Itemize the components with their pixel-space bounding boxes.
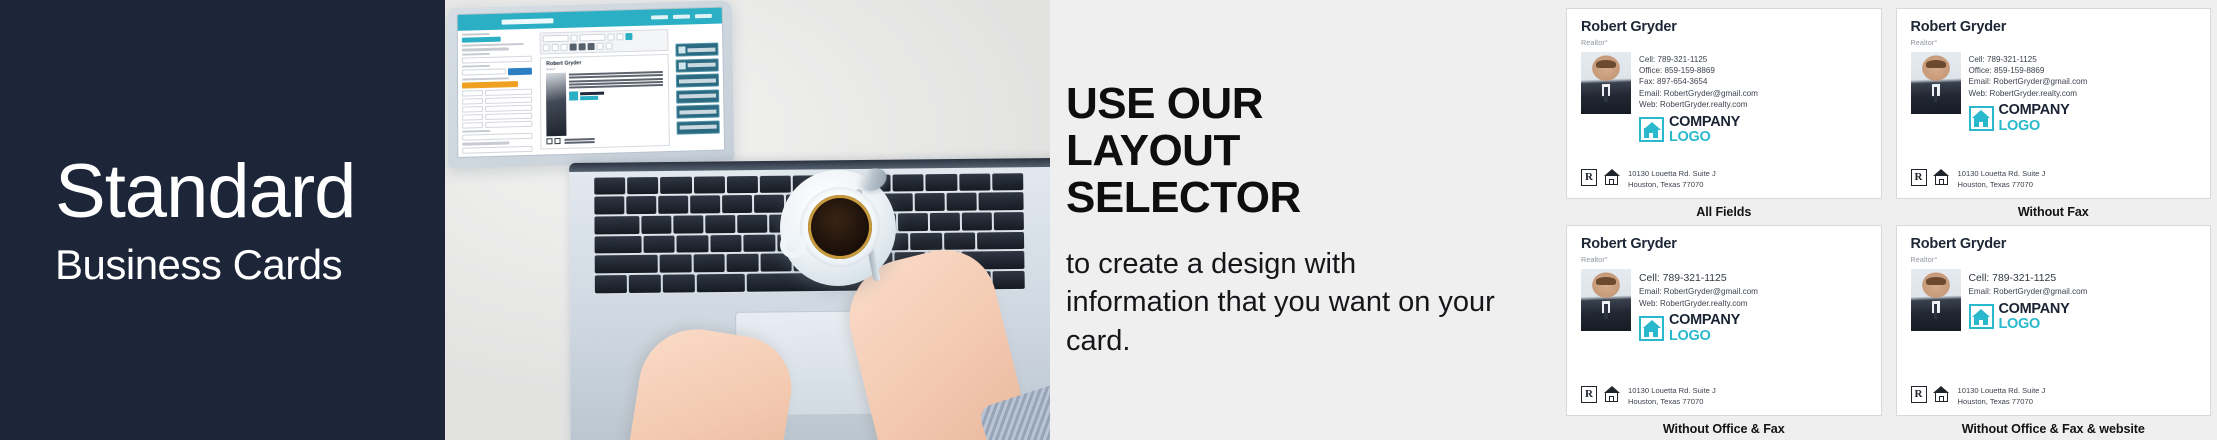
business-card-without-office-fax[interactable]: Robert Gryder Realtor° Cell: 789-321-112… <box>1566 225 1882 416</box>
side-action-label <box>687 63 716 68</box>
card-contact-block: Cell: 789-321-1125 Office: 859-159-8869 … <box>1639 52 1869 166</box>
card-role: Realtor° <box>1911 255 2199 264</box>
logo-line-2: LOGO <box>1669 130 1740 145</box>
toolbar-row-2 <box>543 41 665 51</box>
card-preview[interactable]: Robert Gryder Realtor° <box>540 54 670 150</box>
address-input[interactable] <box>462 133 532 141</box>
card-contact-block: Cell: 789-321-1125 Email: RobertGryder@g… <box>1969 269 2199 383</box>
contact-line-office: Office: 859-159-8869 <box>1639 65 1869 76</box>
house-icon <box>1969 106 1994 131</box>
laptop-lid: Robert Gryder Realtor° <box>448 0 735 168</box>
realtor-icon: R <box>1911 169 1927 186</box>
card-caption-without-fax: Without Fax <box>1896 199 2212 219</box>
equal-housing-opportunity-icon <box>1603 386 1620 403</box>
preview-logo-text <box>581 91 605 99</box>
card-name: Robert Gryder <box>1911 237 2199 252</box>
name-input[interactable] <box>461 55 531 63</box>
card-name: Robert Gryder <box>1581 237 1869 252</box>
promo-copy: USE OUR LAYOUT SELECTOR to create a desi… <box>1066 0 1506 440</box>
office-input[interactable] <box>485 97 532 104</box>
app-nav-links <box>652 14 713 20</box>
align-center-button[interactable] <box>552 44 559 51</box>
logo-line-1: COMPANY <box>1669 115 1740 130</box>
side-action-label <box>679 93 717 98</box>
app-preview-panel: Robert Gryder Realtor° <box>537 28 672 152</box>
address-line-2: Houston, Texas 77070 <box>1958 180 2046 191</box>
extra-input[interactable] <box>462 145 532 153</box>
side-action-background[interactable] <box>675 73 719 87</box>
realtor-icon <box>547 139 553 145</box>
company-logo-text: COMPANY LOGO <box>1669 115 1740 145</box>
layout-selector-highlight[interactable] <box>462 81 518 89</box>
realtor-icon: R <box>1911 386 1927 403</box>
card-role: Realtor° <box>1911 38 2199 47</box>
card-caption-without-office-fax-website: Without Office & Fax & website <box>1896 416 2212 436</box>
headshot-photo <box>1911 269 1961 331</box>
card-address: 10130 Louetta Rd. Suite J Houston, Texas… <box>1628 386 1716 408</box>
company-logo-text: COMPANY LOGO <box>1999 302 2070 332</box>
house-door <box>1979 320 1983 325</box>
promo-subtext: to create a design with information that… <box>1066 245 1506 360</box>
card-caption-without-office-fax: Without Office & Fax <box>1566 416 1882 436</box>
house-door <box>1649 332 1653 337</box>
side-action-label <box>687 47 716 52</box>
email-input[interactable] <box>485 113 532 120</box>
apply-button[interactable] <box>508 68 532 76</box>
panel-subtitle: Business Cards <box>55 244 445 286</box>
field-row <box>462 121 532 129</box>
fax-select[interactable] <box>462 106 483 113</box>
card-contact-block: Cell: 789-321-1125 Email: RobertGryder@g… <box>1639 269 1869 383</box>
promo-headline: USE OUR LAYOUT SELECTOR <box>1066 80 1506 221</box>
contact-line-office: Office: 859-159-8869 <box>1969 65 2199 76</box>
shape-button[interactable] <box>579 43 586 50</box>
preview-logo-line1 <box>581 91 605 95</box>
tie <box>1934 304 1938 319</box>
address-line-1: 10130 Louetta Rd. Suite J <box>1958 169 2046 180</box>
card-name: Robert Gryder <box>1911 20 2199 35</box>
align-right-button[interactable] <box>561 44 568 51</box>
card-footer: R 10130 Louetta Rd. Suite J Houston, Tex… <box>1911 386 2199 408</box>
editor-toolbar <box>540 29 668 54</box>
field-row <box>462 89 532 97</box>
card-contact-block: Cell: 789-321-1125 Office: 859-159-8869 … <box>1969 52 2199 166</box>
house-icon <box>1639 117 1664 142</box>
field-label-title <box>461 65 490 68</box>
card-main: Cell: 789-321-1125 Office: 859-159-8869 … <box>1911 52 2199 166</box>
logo-line-1: COMPANY <box>1999 103 2070 118</box>
bold-button[interactable] <box>608 33 615 40</box>
web-select[interactable] <box>462 122 483 129</box>
hair <box>1596 277 1616 285</box>
card-cell: Robert Gryder Realtor° Cell: 789-321-112… <box>1896 8 2212 219</box>
address-line-1: 10130 Louetta Rd. Suite J <box>1628 169 1716 180</box>
hair <box>1926 277 1946 285</box>
house-icon <box>1639 316 1664 341</box>
headshot-photo <box>1581 269 1631 331</box>
preview-headshot <box>546 73 567 137</box>
house-door <box>1649 133 1653 138</box>
card-name: Robert Gryder <box>1581 20 1869 35</box>
hair <box>1596 60 1616 68</box>
app-form-panel <box>461 32 534 154</box>
save-icon <box>678 46 685 53</box>
business-card-without-office-fax-website[interactable]: Robert Gryder Realtor° Cell: 789-321-112… <box>1896 225 2212 416</box>
tie <box>1604 304 1608 319</box>
company-logo-text: COMPANY LOGO <box>1669 313 1740 343</box>
laptop-illustration: Robert Gryder Realtor° <box>445 2 1050 440</box>
font-size-select[interactable] <box>571 34 578 41</box>
contact-line-web: Web: RobertGryder.realty.com <box>1639 99 1869 110</box>
field-row <box>462 105 532 113</box>
nav-register-link[interactable] <box>673 15 690 19</box>
title-row <box>462 68 532 77</box>
contact-line-cell: Cell: 789-321-1125 <box>1969 271 2199 287</box>
side-action-label <box>679 78 717 83</box>
form-desc-line <box>461 43 523 47</box>
business-card-all-fields[interactable]: Robert Gryder Realtor° Cell: 789-321-112… <box>1566 8 1882 199</box>
preview-contact-lines <box>569 70 663 136</box>
preview-footer <box>547 135 664 144</box>
contact-line-email: Email: RobertGryder@gmail.com <box>1639 286 1869 297</box>
title-input[interactable] <box>462 68 506 75</box>
contact-line-email: Email: RobertGryder@gmail.com <box>1969 76 2199 87</box>
address-line-2: Houston, Texas 77070 <box>1958 397 2046 408</box>
card-main: Cell: 789-321-1125 Email: RobertGryder@g… <box>1581 269 1869 383</box>
app-side-actions <box>675 27 721 149</box>
field-label-layout <box>462 77 510 81</box>
contact-line-cell: Cell: 789-321-1125 <box>1969 54 2199 65</box>
nav-forgot-password-link[interactable] <box>695 14 712 18</box>
card-footer: R 10130 Louetta Rd. Suite J Houston, Tex… <box>1581 386 1869 408</box>
business-card-without-fax[interactable]: Robert Gryder Realtor° Cell: 789-321-112… <box>1896 8 2212 199</box>
font-family-select[interactable] <box>543 35 569 43</box>
card-role: Realtor° <box>1581 38 1869 47</box>
hair <box>1926 60 1946 68</box>
logo-line-1: COMPANY <box>1669 313 1740 328</box>
preview-main <box>546 70 663 137</box>
company-logo-text: COMPANY LOGO <box>1999 103 2070 133</box>
company-logo: COMPANY LOGO <box>1969 302 2199 332</box>
laptop-scene-photo: Robert Gryder Realtor° <box>445 0 1050 440</box>
side-action-upload[interactable] <box>675 58 719 72</box>
equal-housing-icon <box>555 138 561 144</box>
company-logo: COMPANY LOGO <box>1639 313 1869 343</box>
card-main: Cell: 789-321-1125 Office: 859-159-8869 … <box>1581 52 1869 166</box>
left-title-panel: Standard Business Cards <box>0 0 445 440</box>
card-footer: R 10130 Louetta Rd. Suite J Houston, Tex… <box>1581 169 1869 191</box>
side-action-template[interactable] <box>676 89 720 103</box>
side-action-preview[interactable] <box>676 104 720 118</box>
cell-select[interactable] <box>462 90 483 97</box>
headshot-photo <box>1581 52 1631 114</box>
contact-line-cell: Cell: 789-321-1125 <box>1639 54 1869 65</box>
company-logo: COMPANY LOGO <box>1969 103 2199 133</box>
equal-housing-opportunity-icon <box>1603 169 1620 186</box>
laptop-screen: Robert Gryder Realtor° <box>456 7 725 158</box>
card-cell: Robert Gryder Realtor° Cell: 789-321-112… <box>1566 8 1882 219</box>
card-address: 10130 Louetta Rd. Suite J Houston, Texas… <box>1958 169 2046 191</box>
contact-line-web: Web: RobertGryder.realty.com <box>1639 298 1869 309</box>
logo-line-2: LOGO <box>1669 329 1740 344</box>
app-body: Robert Gryder Realtor° <box>457 24 724 158</box>
field-label-name <box>461 52 490 55</box>
field-row <box>462 113 532 121</box>
headshot-photo <box>1911 52 1961 114</box>
address-line-2: Houston, Texas 77070 <box>1628 397 1716 408</box>
card-cell: Robert Gryder Realtor° Cell: 789-321-112… <box>1566 225 1882 436</box>
redo-button[interactable] <box>606 42 613 49</box>
house-icon <box>569 91 578 100</box>
preview-address-line <box>565 141 595 144</box>
image-button[interactable] <box>570 43 577 50</box>
breadcrumb <box>461 33 490 36</box>
cell-input[interactable] <box>485 89 532 96</box>
italic-button[interactable] <box>617 33 624 40</box>
card-role: Realtor° <box>1581 255 1869 264</box>
color-picker-button[interactable] <box>626 33 633 40</box>
house-door <box>1979 122 1983 127</box>
tie <box>1934 87 1938 102</box>
undo-button[interactable] <box>597 43 604 50</box>
align-left-button[interactable] <box>543 44 550 51</box>
card-footer: R 10130 Louetta Rd. Suite J Houston, Tex… <box>1911 169 2199 191</box>
realtor-icon: R <box>1581 386 1597 403</box>
upload-icon <box>678 62 685 69</box>
address-line-1: 10130 Louetta Rd. Suite J <box>1958 386 2046 397</box>
preview-address <box>565 138 595 143</box>
coffee-liquid <box>808 195 872 259</box>
card-address: 10130 Louetta Rd. Suite J Houston, Texas… <box>1628 169 1716 191</box>
field-label-address <box>462 130 491 133</box>
fax-input[interactable] <box>485 105 532 112</box>
logo-line-2: LOGO <box>1999 119 2070 134</box>
address-line-2: Houston, Texas 77070 <box>1628 180 1716 191</box>
card-caption-all-fields: All Fields <box>1566 199 1882 219</box>
side-action-label <box>679 125 717 130</box>
form-desc-line <box>461 48 509 52</box>
house-icon <box>1969 304 1994 329</box>
side-action-label <box>679 109 717 114</box>
flip-button[interactable] <box>588 43 595 50</box>
font-style-select[interactable] <box>580 34 606 42</box>
office-select[interactable] <box>462 98 483 105</box>
equal-housing-opportunity-icon <box>1933 169 1950 186</box>
contact-line-fax: Fax: 897-654-3654 <box>1639 76 1869 87</box>
card-cell: Robert Gryder Realtor° Cell: 789-321-112… <box>1896 225 2212 436</box>
headline-line-3: SELECTOR <box>1066 174 1506 221</box>
field-row <box>462 97 532 105</box>
side-action-save[interactable] <box>675 43 719 57</box>
side-action-order[interactable] <box>676 120 720 134</box>
web-input[interactable] <box>485 121 532 128</box>
tie <box>1604 87 1608 102</box>
logo-line-2: LOGO <box>1999 317 2070 332</box>
contact-line-cell: Cell: 789-321-1125 <box>1639 271 1869 287</box>
contact-line-email: Email: RobertGryder@gmail.com <box>1639 88 1869 99</box>
card-address: 10130 Louetta Rd. Suite J Houston, Texas… <box>1958 386 2046 408</box>
card-layout-grid: Robert Gryder Realtor° Cell: 789-321-112… <box>1566 8 2211 436</box>
company-logo: COMPANY LOGO <box>1639 115 1869 145</box>
panel-title: Standard <box>55 154 445 230</box>
headline-line-1: USE OUR <box>1066 80 1506 127</box>
contact-line-email: Email: RobertGryder@gmail.com <box>1969 286 2199 297</box>
preview-logo-line2 <box>581 96 599 100</box>
app-logo <box>501 18 553 24</box>
contact-line-web: Web: RobertGryder.realty.com <box>1969 88 2199 99</box>
card-main: Cell: 789-321-1125 Email: RobertGryder@g… <box>1911 269 2199 383</box>
nav-login-link[interactable] <box>652 15 669 19</box>
promo-banner: Standard Business Cards <box>0 0 2217 440</box>
logo-line-1: COMPANY <box>1999 302 2070 317</box>
headline-line-2: LAYOUT <box>1066 127 1506 174</box>
preview-company-logo <box>569 89 663 101</box>
realtor-icon: R <box>1581 169 1597 186</box>
address-line-1: 10130 Louetta Rd. Suite J <box>1628 386 1716 397</box>
form-title <box>461 37 500 43</box>
field-label-extra <box>462 142 510 146</box>
email-select[interactable] <box>462 114 483 121</box>
equal-housing-opportunity-icon <box>1933 386 1950 403</box>
